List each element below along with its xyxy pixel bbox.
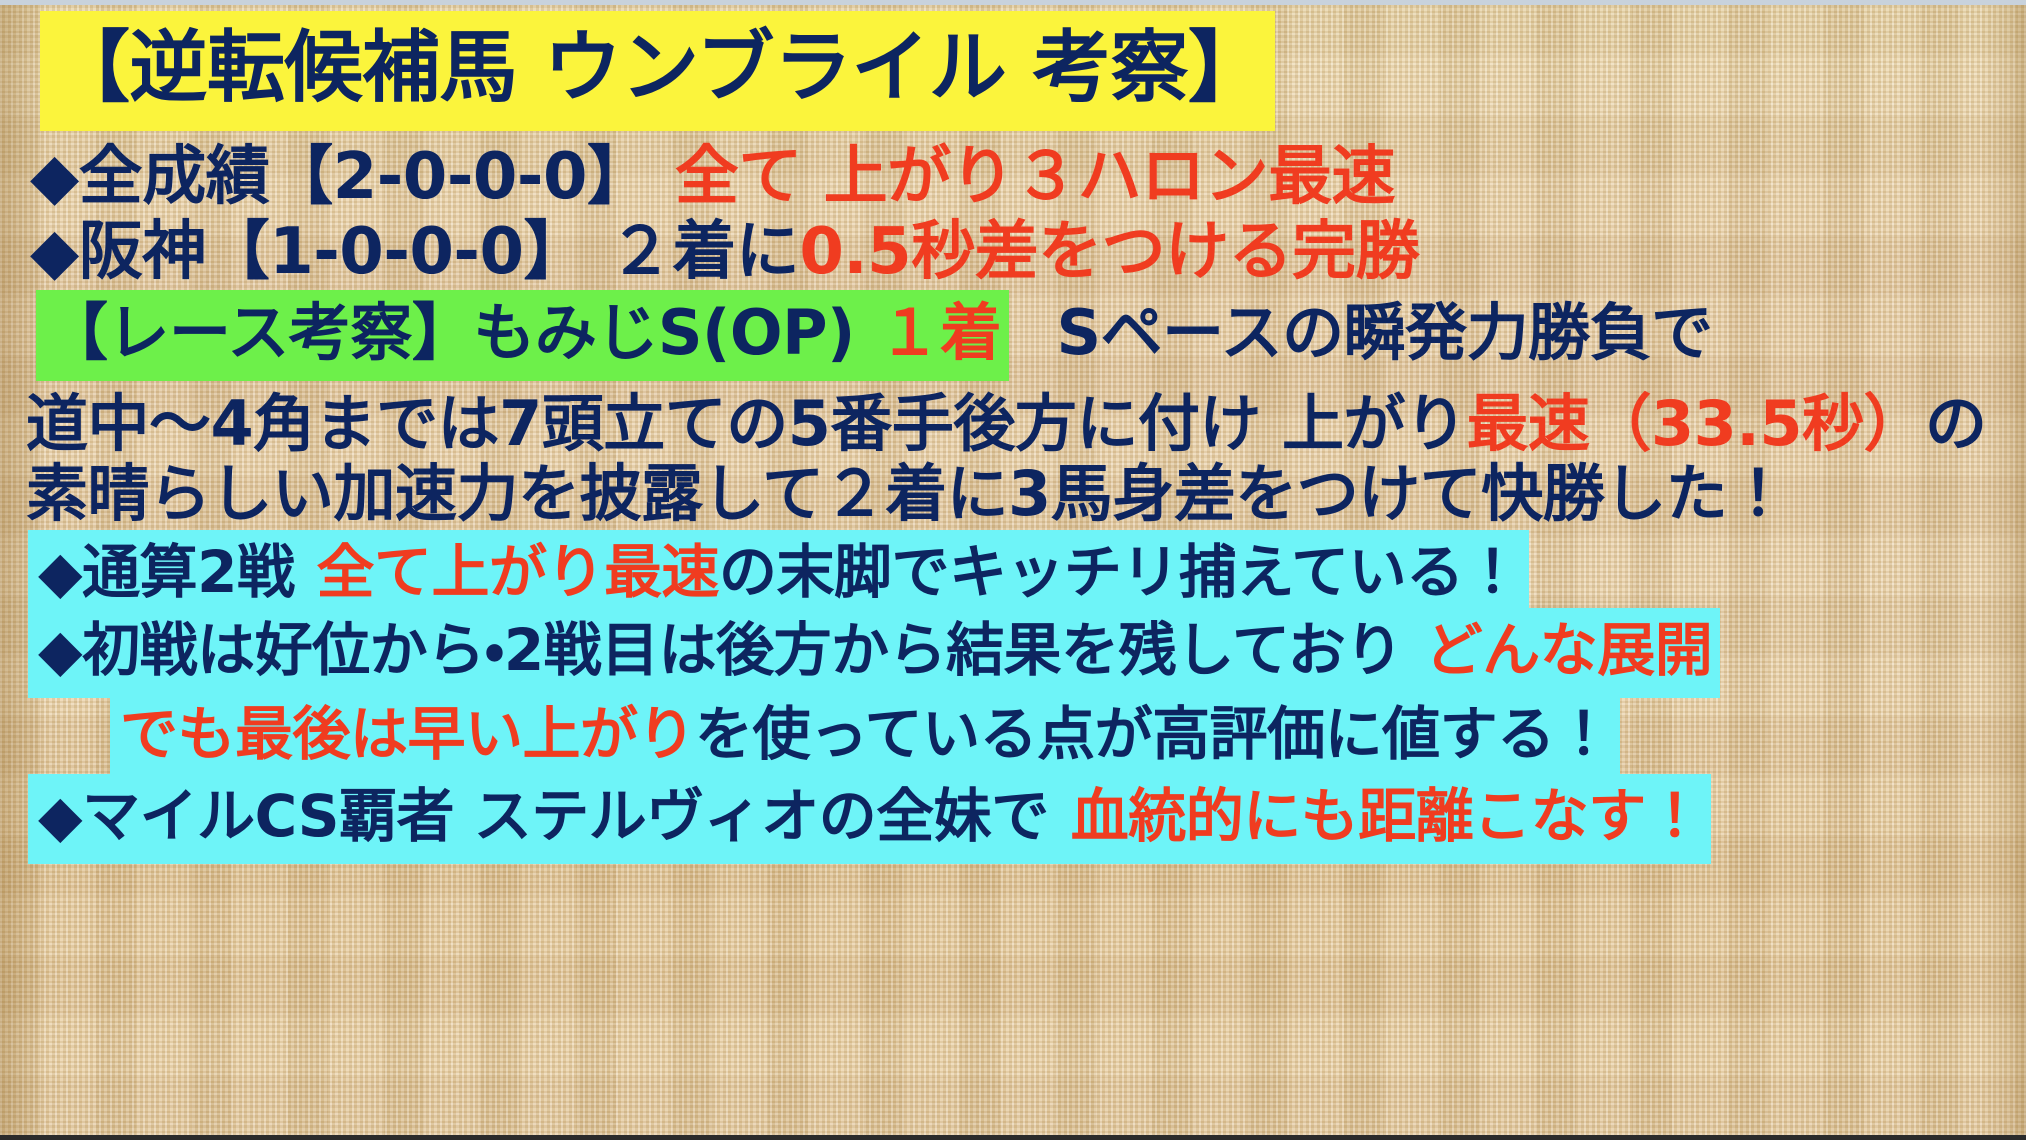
pedigree-red-text: 血統的にも距離こなす！ (1071, 782, 1704, 850)
race-review-trailing-text: Sペースの瞬発力勝負で (1057, 296, 1713, 369)
running-style-2-red-text: でも最後は早い上がり (120, 700, 695, 768)
race-body-line-1: 道中〜4角までは7頭立ての5番手後方に付け 上がり最速（33.5秒）の (26, 393, 1987, 455)
body1-navy-tail: の (1925, 387, 1987, 460)
race-review-highlight: 【レース考察】もみじS(OP)１着 (36, 290, 1009, 381)
running-style-line-2: でも最後は早い上がりを使っている点が高評価に値する！ (110, 705, 1620, 763)
slide-canvas: 【逆転候補馬 ウンブライル 考察】 ◆全成績【2-0-0-0】全て 上がり３ハロ… (0, 0, 2026, 1140)
hanshin-navy-text: 阪神【1-0-0-0】 ２着に (79, 215, 800, 289)
race-review-navy-text: 【レース考察】もみじS(OP) (46, 296, 855, 369)
total-runs-navy-text: 通算2戦 (82, 538, 294, 606)
hanshin-bullet-icon: ◆ (30, 215, 79, 289)
total-runs-navy-tail: の末脚でキッチリ捕えている！ (719, 538, 1521, 606)
total-runs-red-text: 全て上がり最速 (317, 538, 720, 606)
body1-red-text: 最速（33.5秒） (1467, 387, 1925, 460)
total-runs-line: ◆通算2戦全て上がり最速の末脚でキッチリ捕えている！ (28, 543, 1529, 601)
race-body-line-2: 素晴らしい加速力を披露して２着に3馬身差をつけて快勝した！ (26, 463, 1789, 525)
running-style-2-navy-text: を使っている点が高評価に値する！ (695, 700, 1612, 768)
record-line: ◆全成績【2-0-0-0】全て 上がり３ハロン最速 (30, 145, 1395, 209)
running-style-2-highlight: でも最後は早い上がりを使っている点が高評価に値する！ (110, 692, 1620, 782)
race-review-place-badge: １着 (878, 296, 1001, 369)
record-bullet-icon: ◆ (30, 140, 79, 214)
body2-navy-text: 素晴らしい加速力を披露して２着に3馬身差をつけて快勝した！ (26, 457, 1789, 530)
race-review-heading: 【レース考察】もみじS(OP)１着Sペースの瞬発力勝負で (36, 302, 1713, 364)
total-runs-bullet-icon: ◆ (38, 538, 82, 606)
pedigree-highlight: ◆マイルCS覇者 ステルヴィオの全妹で血統的にも距離こなす！ (28, 774, 1711, 864)
hanshin-line: ◆阪神【1-0-0-0】 ２着に0.5秒差をつける完勝 (30, 220, 1419, 284)
running-style-1-red-text: どんな展開 (1425, 616, 1713, 684)
total-runs-highlight: ◆通算2戦全て上がり最速の末脚でキッチリ捕えている！ (28, 530, 1529, 620)
body1-navy-text: 道中〜4角までは7頭立ての5番手後方に付け 上がり (26, 387, 1467, 460)
running-style-line-1: ◆初戦は好位から・2戦目は後方から結果を残しておりどんな展開 (28, 621, 1720, 679)
page-title: 【逆転候補馬 ウンブライル 考察】 (40, 29, 1275, 107)
pedigree-navy-text: マイルCS覇者 ステルヴィオの全妹で (82, 782, 1049, 850)
record-red-text: 全て 上がり３ハロン最速 (675, 140, 1395, 214)
hanshin-red-text: 0.5秒差をつける完勝 (799, 215, 1419, 289)
running-style-1-highlight: ◆初戦は好位から・2戦目は後方から結果を残しておりどんな展開 (28, 608, 1720, 698)
running-style-1-bullet-icon: ◆ (38, 616, 82, 684)
running-style-1-navy-text: 初戦は好位から・2戦目は後方から結果を残しており (82, 616, 1403, 684)
pedigree-bullet-icon: ◆ (38, 782, 82, 850)
pedigree-line: ◆マイルCS覇者 ステルヴィオの全妹で血統的にも距離こなす！ (28, 787, 1711, 845)
title-text: 【逆転候補馬 ウンブライル 考察】 (40, 11, 1275, 131)
record-navy-text: 全成績【2-0-0-0】 (79, 140, 651, 214)
